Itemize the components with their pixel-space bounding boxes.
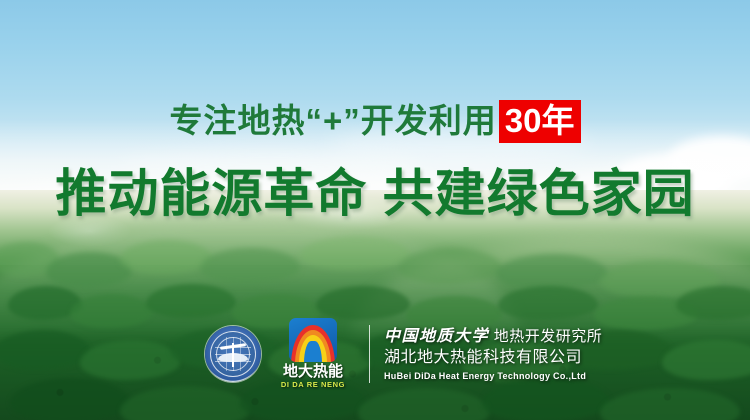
- footer-company-en: HuBei DiDa Heat Energy Technology Co.,Lt…: [384, 369, 602, 383]
- headline: 专注地热“+”开发利用30年: [0, 100, 750, 142]
- brand-name-en: DI DA RE NENG: [273, 380, 353, 390]
- footer-divider: [369, 325, 370, 383]
- geothermal-promo-banner: 专注地热“+”开发利用30年 推动能源革命 共建绿色家园 地大热能 DI DA …: [0, 0, 750, 420]
- brand-logo: 地大热能 DI DA RE NENG: [273, 318, 353, 390]
- footer-institute-line: 中国地质大学 地热开发研究所: [384, 326, 602, 347]
- main-slogan: 推动能源革命 共建绿色家园: [0, 163, 750, 225]
- university-seal-icon: [205, 326, 261, 382]
- rainbow-arc-logo-icon: [289, 318, 337, 362]
- footer-branding: 地大热能 DI DA RE NENG 中国地质大学 地热开发研究所 湖北地大热能…: [205, 318, 602, 390]
- footer-institute-dept: 地热开发研究所: [494, 328, 603, 345]
- headline-years-badge: 30年: [499, 100, 581, 143]
- headline-text: 专注地热“+”开发利用: [170, 102, 497, 139]
- footer-institute-org: 中国地质大学: [384, 328, 489, 345]
- brand-name-cn: 地大热能: [273, 364, 353, 380]
- footer-company-cn: 湖北地大热能科技有限公司: [384, 347, 602, 369]
- footer-text-block: 中国地质大学 地热开发研究所 湖北地大热能科技有限公司 HuBei DiDa H…: [384, 326, 602, 383]
